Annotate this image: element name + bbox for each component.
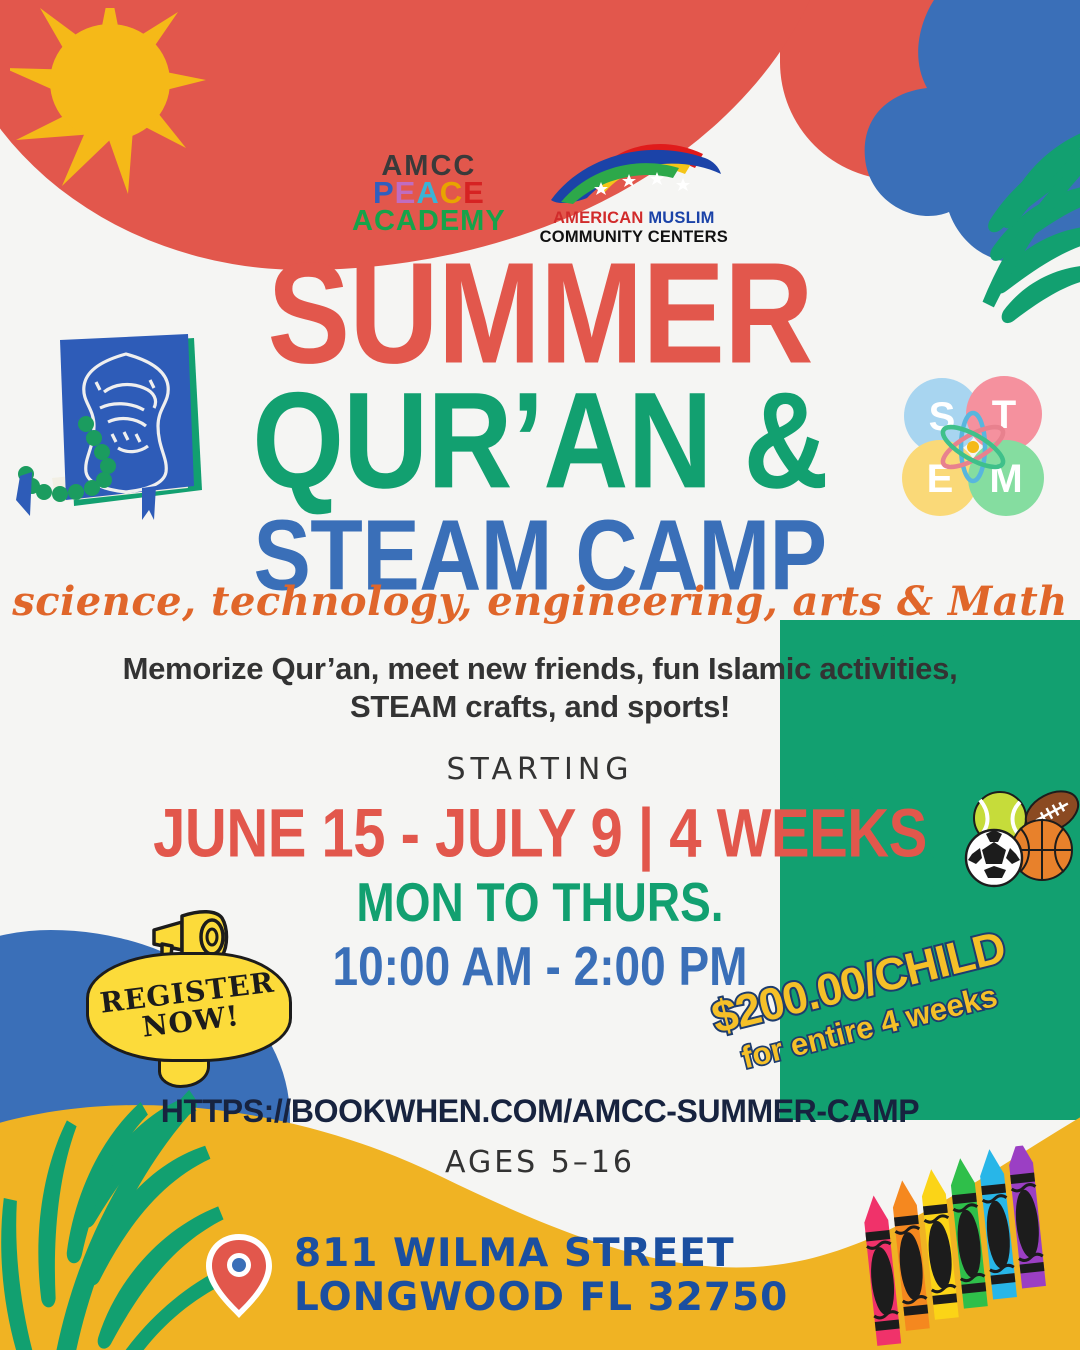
stem-logo-icon: S T E M: [898, 372, 1048, 522]
amcc-logo-peace: PEACE: [352, 179, 506, 208]
address-block: 811 WILMA STREET LONGWOOD FL 32750: [206, 1232, 788, 1319]
sports-balls-icon: [960, 782, 1080, 892]
steam-subtitle: science, technology, engineering, arts &…: [0, 578, 1080, 625]
camp-dates: JUNE 15 - JULY 9 | 4 WEEKS: [0, 800, 1080, 868]
crayons-icon: [842, 1141, 1080, 1350]
register-now-badge[interactable]: REGISTER NOW!: [86, 952, 292, 1062]
logo-row: AMCC PEACE ACADEMY AMERICAN MUSLIM CO: [0, 140, 1080, 247]
register-now-label: REGISTER NOW!: [80, 940, 298, 1074]
american-muslim-community-centers-logo: AMERICAN MUSLIM COMMUNITY CENTERS: [540, 140, 728, 247]
address-line-1: 811 WILMA STREET: [294, 1232, 788, 1276]
svg-text:M: M: [989, 457, 1022, 501]
amcc-arch-icon: [543, 140, 725, 204]
registration-url[interactable]: HTTPS://BOOKWHEN.COM/AMCC-SUMMER-CAMP: [0, 1093, 1080, 1130]
address-line-2: LONGWOOD FL 32750: [294, 1276, 788, 1320]
amcc-peace-academy-logo: AMCC PEACE ACADEMY: [352, 153, 506, 235]
location-pin-icon: [206, 1234, 272, 1318]
camp-description: Memorize Qur’an, meet new friends, fun I…: [120, 650, 960, 726]
mcc-logo-line1: AMERICAN MUSLIM: [540, 209, 728, 228]
starting-label: STARTING: [0, 752, 1080, 787]
headline-line-1: SUMMER: [0, 250, 1080, 379]
summer-camp-flyer: AMCC PEACE ACADEMY AMERICAN MUSLIM CO: [0, 0, 1080, 1350]
svg-text:E: E: [927, 457, 954, 501]
amcc-logo-line3: ACADEMY: [352, 208, 506, 235]
venue-address: 811 WILMA STREET LONGWOOD FL 32750: [294, 1232, 788, 1319]
